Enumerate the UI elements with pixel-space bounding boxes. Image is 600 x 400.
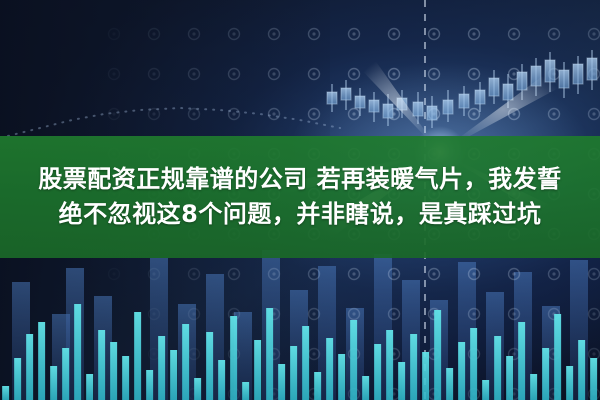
headline-text-block: 股票配资正规靠谱的公司 若再装暖气片，我发誓 绝不忽视这8个问题，并非瞎说，是真… [0, 136, 600, 258]
headline-line-2: 绝不忽视这8个问题，并非瞎说，是真踩过坑 [59, 199, 542, 230]
headline-line-1: 股票配资正规靠谱的公司 若再装暖气片，我发誓 [38, 164, 561, 195]
promo-banner-image: 股票配资正规靠谱的公司 若再装暖气片，我发誓 绝不忽视这8个问题，并非瞎说，是真… [0, 0, 600, 400]
